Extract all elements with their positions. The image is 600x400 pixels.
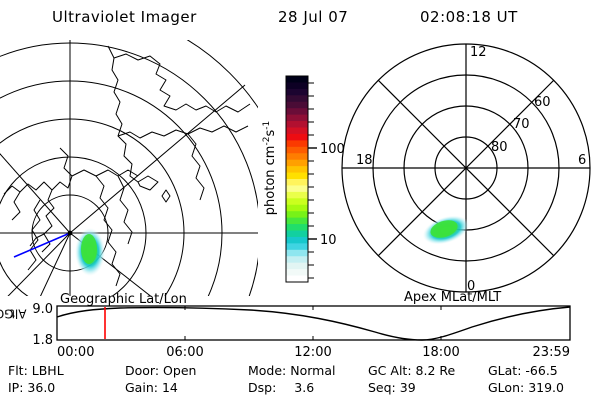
status-door-label: Door: [125,362,159,380]
mlt-label-6: 6 [578,153,586,168]
colorbar-swatch [286,198,308,205]
mlat-label-70: 70 [513,117,530,132]
colorbar-swatch [286,218,308,225]
status-mode-label: Mode: [248,362,286,380]
apex-mlt-dial-panel[interactable]: 12 18 6 0 60 70 80 [336,40,600,296]
mlt-label-12: 12 [470,45,487,60]
colorbar-swatch [286,128,308,135]
status-gain: Gain: 14 [125,379,178,397]
status-glat-label: GLat: [488,362,521,380]
colorbar-swatch [286,147,308,154]
status-dsp-value: 3.6 [294,379,314,397]
status-gain-label: Gain: [125,379,158,397]
orbit-altitude-curve [57,307,570,340]
colorbar-swatch [286,224,308,231]
colorbar-swatch [286,140,308,147]
status-dsp: Dsp: 3.6 [248,379,314,397]
status-gcalt-label: GC Alt: [368,362,412,380]
colorbar-swatch [286,179,308,186]
header-bar: Ultraviolet Imager 28 Jul 07 02:08:18 UT [0,4,600,30]
colorbar-minor-ticks [308,83,314,278]
mlat-label-80: 80 [491,140,508,155]
orbit-xtick-0: 00:00 [57,345,94,360]
colorbar-swatch [286,231,308,238]
status-glon: GLon: 319.0 [488,379,564,397]
mlat-ring-labels: 60 70 80 [491,95,551,155]
status-dsp-label: Dsp: [248,379,276,397]
status-flt: Flt: LBHL [8,362,64,380]
colorbar-swatch [286,153,308,160]
orbit-xtick-1: 06:00 [166,345,203,360]
orbit-altitude-plot[interactable]: 9.0 1.8 00:00 06:00 12:00 18:00 23:59 [0,300,600,358]
colorbar-unit-exp2: -1 [262,121,272,130]
colorbar-swatch [286,166,308,173]
terminator-line [14,233,70,257]
orbit-xtick-2: 12:00 [294,345,331,360]
colorbar-swatch [286,82,308,89]
status-seq: Seq: 39 [368,379,416,397]
geographic-map-panel[interactable] [0,40,258,296]
colorbar-swatch [286,102,308,109]
colorbar-swatch [286,205,308,212]
colorbar-swatch [286,89,308,96]
mlt-label-18: 18 [356,153,373,168]
orbit-plot-frame [57,306,570,340]
colorbar-swatch [286,185,308,192]
colorbar-tick-10: 10 [320,233,337,248]
orbit-y-ticks: 9.0 1.8 [32,302,53,348]
status-ip: IP: 36.0 [8,379,55,397]
colorbar-swatch [286,76,308,83]
coastline-paths [4,46,250,286]
colorbar-panel: photon cm-2s-1 100 10 [258,40,340,296]
status-flt-label: Flt: [8,362,28,380]
colorbar-swatch [286,134,308,141]
status-glon-label: GLon: [488,379,524,397]
status-glat: GLat: -66.5 [488,362,558,380]
status-gcalt-value: 8.2 Re [416,362,456,380]
mlat-label-60: 60 [534,95,551,110]
colorbar-swatch [286,95,308,102]
colorbar-swatch [286,160,308,167]
colorbar-unit-exp1: -2 [262,137,272,146]
orbit-x-ticks: 00:00 06:00 12:00 18:00 23:59 [57,345,570,360]
status-footer: Flt: LBHL Door: Open Mode: Normal GC Alt… [0,362,600,400]
status-seq-value: 39 [400,379,416,397]
observation-time: 02:08:18 UT [420,8,518,26]
colorbar-swatch [286,115,308,122]
colorbar-gradient [286,76,308,283]
colorbar-swatch [286,121,308,128]
pole-marker [68,231,73,236]
instrument-title: Ultraviolet Imager [52,8,197,26]
colorbar-swatch [286,237,308,244]
status-glon-value: 319.0 [528,379,564,397]
status-door-value: Open [163,362,196,380]
aurora-core-geo [81,234,97,264]
orbit-x-tickmarks [185,306,441,340]
colorbar-unit-base: photon cm [263,146,278,216]
mlt-dial-grid [342,44,590,292]
status-flt-value: LBHL [32,362,64,380]
colorbar-swatch [286,269,308,276]
colorbar-swatch [286,108,308,115]
status-mode-value: Normal [290,362,335,380]
orbit-xtick-4: 23:59 [533,345,570,360]
colorbar-swatch [286,192,308,199]
orbit-ytick-min: 1.8 [32,333,53,348]
status-ip-label: IP: [8,379,23,397]
colorbar-swatch [286,250,308,257]
status-gcalt: GC Alt: 8.2 Re [368,362,455,380]
colorbar-axis-label: photon cm-2s-1 [262,121,278,215]
status-seq-label: Seq: [368,379,396,397]
status-ip-value: 36.0 [27,379,55,397]
colorbar-swatch [286,173,308,180]
colorbar-swatch [286,256,308,263]
observation-date: 28 Jul 07 [278,8,348,26]
status-mode: Mode: Normal [248,362,336,380]
svg-text:photon cm-2s-1: photon cm-2s-1 [262,121,278,215]
colorbar-swatch [286,243,308,250]
colorbar-swatch [286,263,308,270]
status-gain-value: 14 [162,379,178,397]
colorbar-swatch [286,211,308,218]
orbit-ytick-max: 9.0 [32,302,53,317]
status-glat-value: -66.5 [525,362,557,380]
status-door: Door: Open [125,362,196,380]
orbit-xtick-3: 18:00 [422,345,459,360]
